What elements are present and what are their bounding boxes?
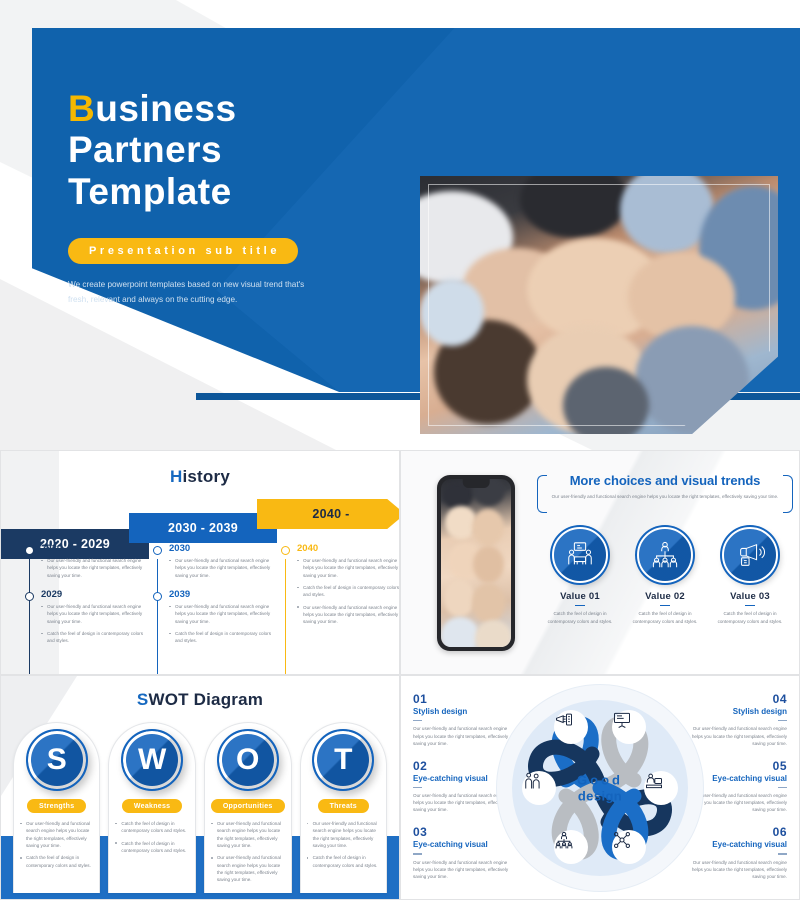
swot-letter-badge: O: [217, 729, 279, 791]
swot-card-threats[interactable]: T Threats Our user-friendly and function…: [300, 722, 387, 893]
swot-cards: S Strengths Our user-friendly and functi…: [13, 722, 387, 893]
gooddesign-item[interactable]: 06 Eye-catching visual Our user-friendly…: [691, 825, 787, 880]
item-text: Our user-friendly and functional search …: [413, 792, 509, 813]
node-bullet: Our user-friendly and functional search …: [41, 603, 145, 625]
choices-heading: More choices and visual trends: [549, 473, 781, 488]
swot-bullet: Catch the feel of design in contemporary…: [115, 820, 188, 835]
history-timeline-2: 2030 Our user-friendly and functional se…: [151, 543, 273, 674]
history-body: 2020 - 2029 2030 - 2039 2040 - 2020 Our …: [1, 499, 399, 674]
item-number: 05: [691, 759, 787, 773]
value-card[interactable]: Value 03 Catch the feel of design in con…: [713, 527, 787, 625]
value-card[interactable]: Value 01 Catch the feel of design in con…: [543, 527, 617, 625]
caption-line1: Good: [577, 772, 623, 787]
timeline-node[interactable]: 2030 Our user-friendly and functional se…: [151, 543, 273, 579]
node-bullet: Our user-friendly and functional search …: [169, 603, 273, 625]
swot-letter: T: [334, 745, 352, 775]
status-badge: Weakness: [122, 799, 183, 813]
team-hierarchy-icon: [554, 830, 588, 864]
gooddesign-infographic: Good design: [496, 684, 704, 892]
swot-letter-badge: T: [312, 729, 374, 791]
value-rule: [575, 605, 585, 606]
caption-line2: design: [577, 788, 623, 803]
timeline-node[interactable]: 2020 Our user-friendly and functional se…: [23, 543, 145, 579]
phone-mockup: [437, 475, 515, 651]
meeting-presentation-icon: [552, 527, 608, 583]
item-text: Our user-friendly and functional search …: [691, 725, 787, 746]
history-timeline-1: 2020 Our user-friendly and functional se…: [23, 543, 145, 674]
value-text: Catch the feel of design in contemporary…: [628, 610, 702, 624]
swot-letter: O: [236, 745, 259, 775]
node-bullet: Catch the feel of design in contemporary…: [169, 630, 273, 645]
swot-letter: S: [47, 745, 67, 775]
item-text: Our user-friendly and functional search …: [413, 859, 509, 880]
item-rule: [778, 787, 787, 788]
value-card[interactable]: Value 02 Catch the feel of design in con…: [628, 527, 702, 625]
swot-bullet: Our user-friendly and functional search …: [20, 820, 93, 849]
title-accent-letter: B: [68, 88, 95, 129]
swot-bullet: Our user-friendly and functional search …: [211, 820, 285, 849]
swot-letter-badge: S: [26, 729, 88, 791]
slide-good-design: 01 Stylish design Our user-friendly and …: [400, 675, 800, 900]
phone-screen-photo: [441, 479, 511, 647]
timeline-dot-icon: [281, 546, 290, 555]
title-heading-line2: Template: [68, 171, 232, 212]
value-rule: [745, 605, 755, 606]
item-text: Our user-friendly and functional search …: [413, 725, 509, 746]
swot-card-opportunities[interactable]: O Opportunities Our user-friendly and fu…: [204, 722, 292, 893]
team-hierarchy-icon: [637, 527, 693, 583]
value-text: Catch the feel of design in contemporary…: [543, 610, 617, 624]
gooddesign-left-column: 01 Stylish design Our user-friendly and …: [413, 692, 509, 892]
item-number: 01: [413, 692, 509, 706]
page-title: Business Partners Template: [68, 88, 398, 212]
slide-title: Business Partners Template Presentation …: [0, 0, 800, 450]
timeline-dot-icon: [25, 546, 34, 555]
status-badge: Strengths: [27, 799, 86, 813]
phone-notch: [463, 479, 490, 488]
hero-photo: [420, 176, 778, 434]
item-label: Eye-catching visual: [691, 774, 787, 783]
item-label: Eye-catching visual: [413, 774, 509, 783]
swot-card-strengths[interactable]: S Strengths Our user-friendly and functi…: [13, 722, 100, 893]
swot-bullet: Our user-friendly and functional search …: [211, 854, 285, 883]
swot-bullet: Catch the feel of design in contemporary…: [307, 854, 380, 869]
item-number: 04: [691, 692, 787, 706]
gooddesign-item[interactable]: 05 Eye-catching visual Our user-friendly…: [691, 759, 787, 814]
status-badge: Threats: [318, 799, 369, 813]
history-title: History: [9, 467, 391, 487]
timeline-node[interactable]: 2029 Our user-friendly and functional se…: [23, 589, 145, 645]
gooddesign-item[interactable]: 04 Stylish design Our user-friendly and …: [691, 692, 787, 747]
status-badge: Opportunities: [211, 799, 285, 813]
node-year: 2029: [41, 589, 145, 600]
values-list: Value 01 Catch the feel of design in con…: [543, 527, 787, 625]
value-title: Value 03: [713, 591, 787, 602]
node-year: 2039: [169, 589, 273, 600]
subtitle-pill: Presentation sub title: [68, 238, 298, 264]
slide-deck: Business Partners Template Presentation …: [0, 0, 800, 900]
network-people-icon: [612, 830, 646, 864]
history-timeline-3: 2040 Our user-friendly and functional se…: [279, 543, 399, 674]
bracket-right-icon: [783, 475, 793, 513]
item-number: 03: [413, 825, 509, 839]
slide-history: History 2020 - 2029 2030 - 2039 2040 - 2…: [0, 450, 400, 675]
node-year: 2040: [297, 543, 399, 554]
bracket-left-icon: [537, 475, 547, 513]
swot-card-weakness[interactable]: W Weakness Catch the feel of design in c…: [108, 722, 195, 893]
gooddesign-right-column: 04 Stylish design Our user-friendly and …: [691, 692, 787, 892]
node-year: 2030: [169, 543, 273, 554]
node-bullet: Our user-friendly and functional search …: [41, 557, 145, 579]
node-bullet: Catch the feel of design in contemporary…: [297, 584, 399, 599]
item-label: Eye-catching visual: [413, 840, 509, 849]
swot-bullet: Our user-friendly and functional search …: [307, 820, 380, 849]
timeline-dot-icon: [153, 592, 162, 601]
item-label: Stylish design: [691, 707, 787, 716]
gooddesign-item[interactable]: 01 Stylish design Our user-friendly and …: [413, 692, 509, 747]
item-rule: [778, 720, 787, 721]
choices-subheading: Our user-friendly and functional search …: [549, 493, 781, 500]
history-title-rest: istory: [182, 467, 230, 486]
timeline-node[interactable]: 2040 Our user-friendly and functional se…: [279, 543, 399, 626]
item-rule: [413, 853, 422, 854]
item-rule: [413, 720, 422, 721]
node-bullet: Catch the feel of design in contemporary…: [41, 630, 145, 645]
swot-title-accent: S: [137, 690, 149, 709]
history-band-2[interactable]: 2030 - 2039: [129, 513, 277, 543]
item-label: Stylish design: [413, 707, 509, 716]
item-rule: [778, 853, 787, 854]
swot-title: SWOT Diagram: [1, 676, 399, 710]
swot-bullet: Catch the feel of design in contemporary…: [20, 854, 93, 869]
timeline-dot-icon: [25, 592, 34, 601]
title-text-block: Business Partners Template Presentation …: [68, 88, 398, 307]
history-band-3[interactable]: 2040 -: [257, 499, 400, 529]
history-title-accent: H: [170, 467, 182, 486]
swot-title-rest: WOT Diagram: [148, 690, 263, 709]
value-title: Value 01: [543, 591, 617, 602]
people-pair-icon: [522, 771, 556, 805]
desk-worker-icon: [644, 771, 678, 805]
node-bullet: Our user-friendly and functional search …: [297, 604, 399, 626]
infographic-caption: Good design: [577, 772, 623, 803]
node-bullet: Our user-friendly and functional search …: [297, 557, 399, 579]
slide-swot: SWOT Diagram S Strengths Our user-friend…: [0, 675, 400, 900]
swot-letter-badge: W: [121, 729, 183, 791]
swot-letter: W: [138, 745, 166, 775]
megaphone-icon: [722, 527, 778, 583]
title-description: We create powerpoint templates based on …: [68, 278, 318, 307]
item-text: Our user-friendly and functional search …: [691, 792, 787, 813]
item-number: 02: [413, 759, 509, 773]
value-rule: [660, 605, 670, 606]
slide-more-choices: More choices and visual trends Our user-…: [400, 450, 800, 675]
value-text: Catch the feel of design in contemporary…: [713, 610, 787, 624]
node-bullet: Our user-friendly and functional search …: [169, 557, 273, 579]
presentation-screen-icon: [612, 710, 646, 744]
megaphone-board-icon: [554, 710, 588, 744]
swot-bullet: Catch the feel of design in contemporary…: [115, 840, 188, 855]
gooddesign-item[interactable]: 03 Eye-catching visual Our user-friendly…: [413, 825, 509, 880]
item-text: Our user-friendly and functional search …: [691, 859, 787, 880]
item-rule: [413, 787, 422, 788]
item-number: 06: [691, 825, 787, 839]
timeline-node[interactable]: 2039 Our user-friendly and functional se…: [151, 589, 273, 645]
value-title: Value 02: [628, 591, 702, 602]
timeline-dot-icon: [153, 546, 162, 555]
gooddesign-item[interactable]: 02 Eye-catching visual Our user-friendly…: [413, 759, 509, 814]
node-year: 2020: [41, 543, 145, 554]
choices-header: More choices and visual trends Our user-…: [549, 473, 781, 500]
item-label: Eye-catching visual: [691, 840, 787, 849]
